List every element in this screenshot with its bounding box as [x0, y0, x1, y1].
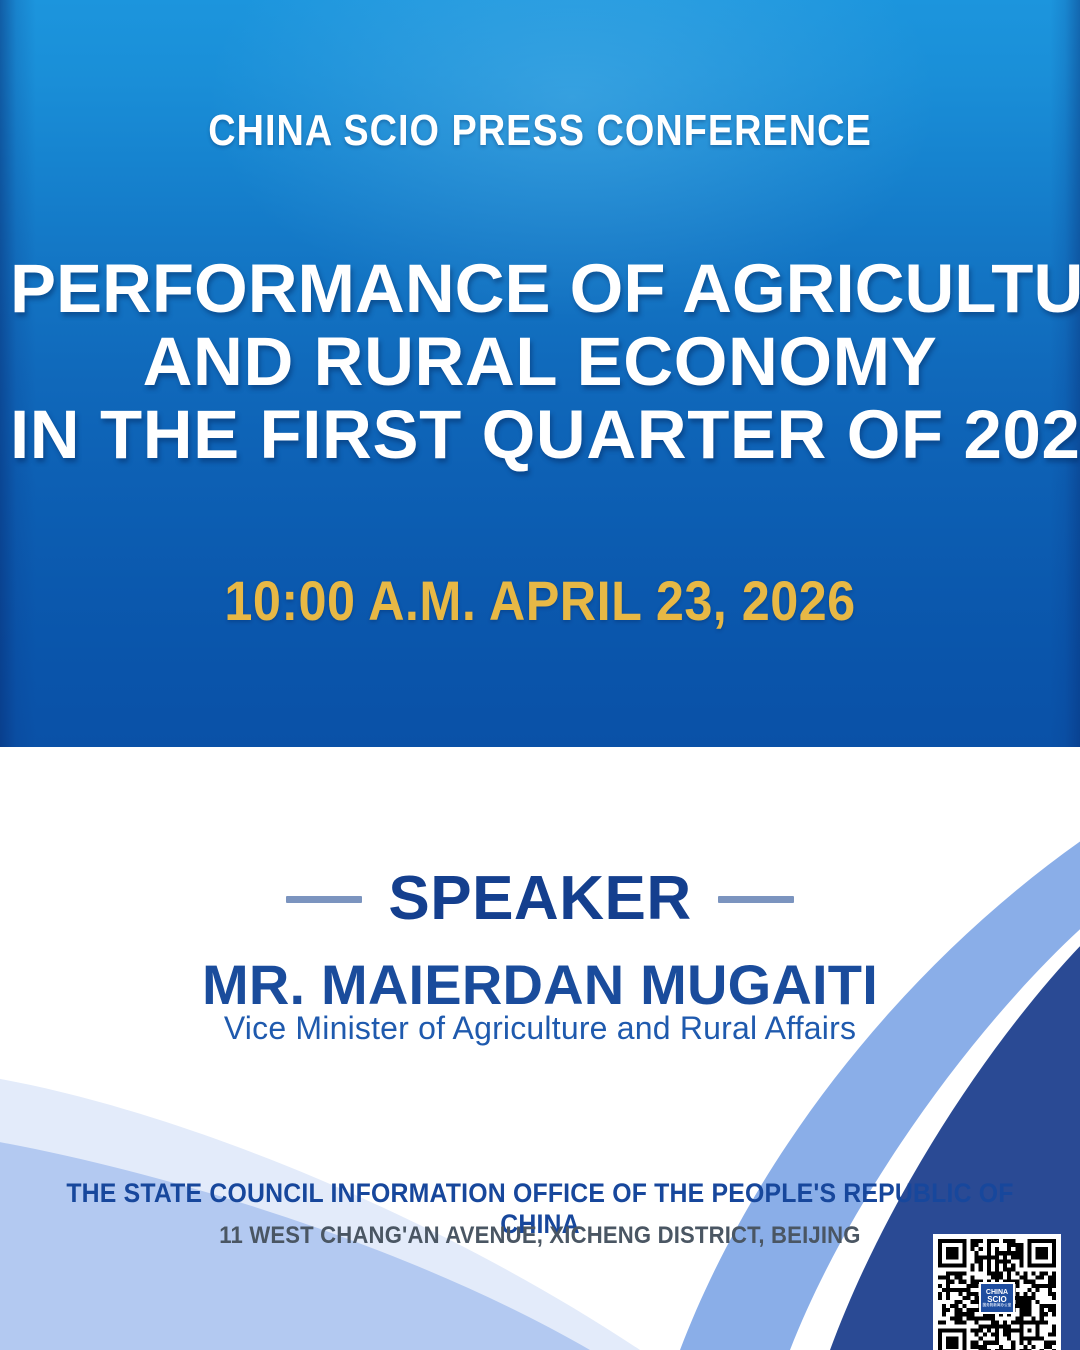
qr-code-matrix: CHINA SCIO 国务院新闻办公室	[938, 1239, 1056, 1350]
qr-code-center-logo: CHINA SCIO 国务院新闻办公室	[979, 1282, 1015, 1314]
event-title-line-2: AND RURAL ECONOMY	[10, 325, 1070, 398]
qr-code[interactable]: CHINA SCIO 国务院新闻办公室	[933, 1234, 1061, 1350]
speaker-section-label: SPEAKER	[388, 868, 691, 930]
event-datetime: 10:00 A.M. APRIL 23, 2026	[54, 568, 1026, 633]
speaker-section-header: SPEAKER	[0, 868, 1080, 930]
event-kicker: CHINA SCIO PRESS CONFERENCE	[76, 106, 1005, 156]
event-title-line-1: PERFORMANCE OF AGRICULTURE	[10, 252, 1070, 325]
footer-address: 11 WEST CHANG'AN AVENUE, XICHENG DISTRIC…	[43, 1222, 1037, 1250]
speaker-role: Vice Minister of Agriculture and Rural A…	[0, 1010, 1080, 1047]
speaker-rule-left-icon	[286, 896, 362, 903]
press-conference-poster: CHINA SCIO PRESS CONFERENCE PERFORMANCE …	[0, 0, 1080, 1350]
event-title-line-3: IN THE FIRST QUARTER OF 2026	[10, 398, 1070, 471]
event-title: PERFORMANCE OF AGRICULTURE AND RURAL ECO…	[10, 252, 1070, 471]
qr-logo-line-3: 国务院新闻办公室	[983, 1304, 1012, 1307]
speaker-rule-right-icon	[718, 896, 794, 903]
speaker-name: MR. MAIERDAN MUGAITI	[0, 952, 1080, 1017]
